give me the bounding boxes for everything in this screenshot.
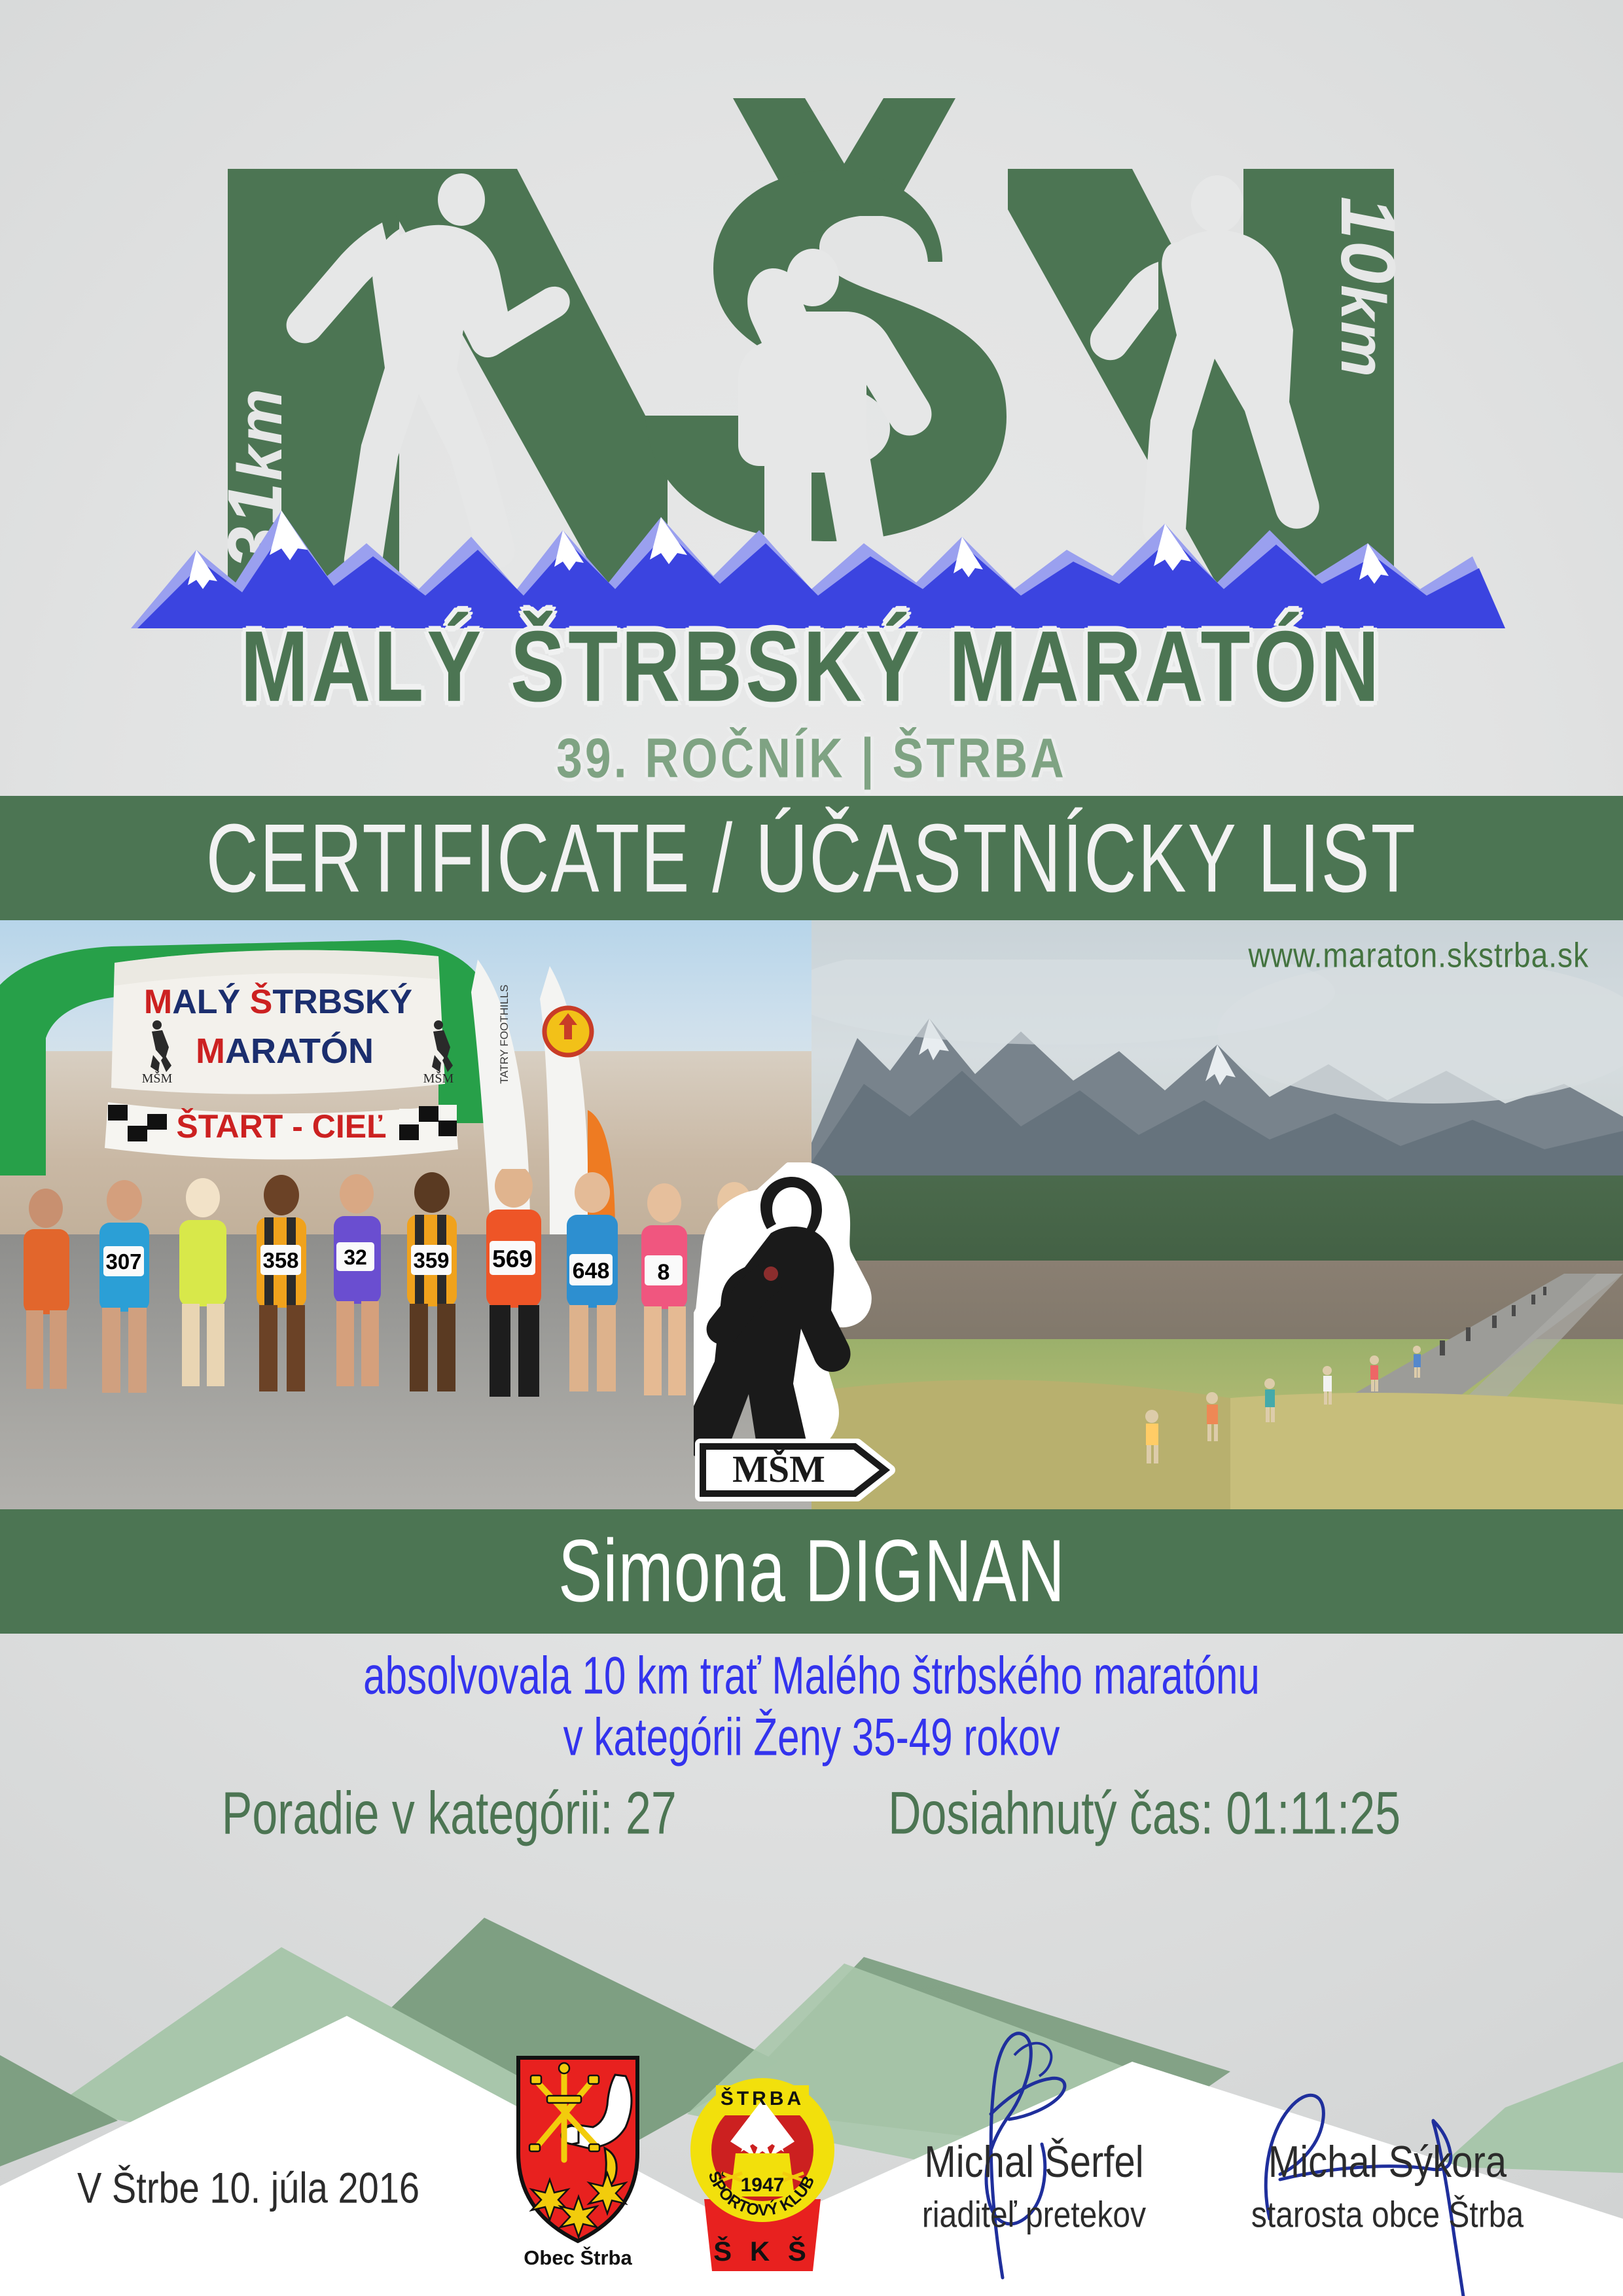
detail-line-category: v kategórii Ženy 35-49 rokov (24, 1706, 1599, 1770)
bib-number: 569 (492, 1246, 533, 1272)
certificate-footer: V Štrbe 10. júla 2016 (0, 2016, 1623, 2296)
tatra-landscape-photo: www.maraton.skstrba.sk (811, 920, 1623, 1509)
participant-name-banner: Simona DIGNAN (0, 1509, 1623, 1634)
signature-block-mayor: Michal Sýkora starosta obce Štrba (1204, 2140, 1571, 2233)
logo-subtitle: 39. ROČNÍK | ŠTRBA (0, 726, 1623, 790)
race-road-runners (811, 1234, 1623, 1509)
issue-date: V Štrbe 10. júla 2016 (77, 2162, 419, 2213)
emblem-text: MŠM (732, 1448, 825, 1490)
photo-strip: MALÝ ŠTRBSKÝ MARATÓN MŠM MŠM (0, 920, 1623, 1509)
sks-club-logo: ŠTRBA 1947 ŠPORTOVÝ KLUB Š K Š (687, 2042, 838, 2274)
emblem-banner: MŠM (700, 1444, 890, 1496)
finish-time: Dosiahnutý čas: 01:11:25 (888, 1780, 1400, 1848)
bib-number: 648 (573, 1259, 610, 1283)
bib-number: 8 (658, 1260, 670, 1285)
detail-line-distance: absolvovala 10 km trať Malého štrbského … (24, 1644, 1599, 1708)
club-year: 1947 (741, 2174, 785, 2196)
arch-start-finish: ŠTART - CIEĽ (176, 1107, 386, 1145)
club-bottom-text: Š K Š (713, 2235, 811, 2267)
signatory-name: Michal Šerfel (851, 2137, 1217, 2188)
bib-number: 307 (105, 1249, 141, 1274)
race-start-photo: MALÝ ŠTRBSKÝ MARATÓN MŠM MŠM (0, 920, 811, 1509)
signatory-name: Michal Sýkora (1204, 2137, 1571, 2188)
certificate-title: CERTIFICATE / ÚČASTNÍCKY LIST (206, 810, 1417, 906)
svg-text:MŠM: MŠM (142, 1070, 173, 1086)
arch-line1: MALÝ ŠTRBSKÝ (144, 982, 412, 1021)
category-rank: Poradie v kategórii: 27 (222, 1780, 677, 1848)
website-url[interactable]: www.maraton.skstrba.sk (1249, 935, 1589, 975)
certificate-title-banner: CERTIFICATE / ÚČASTNÍCKY LIST (0, 796, 1623, 920)
svg-text:MŠM: MŠM (423, 1070, 454, 1086)
bib-number: 358 (262, 1248, 298, 1272)
signatory-role: riaditeľ pretekov (851, 2195, 1217, 2236)
obec-label: Obec Štrba (524, 2246, 632, 2269)
bib-number: 359 (413, 1248, 449, 1272)
logo-title: MALÝ ŠTRBSKÝ MARATÓN (0, 609, 1623, 724)
arch-line2: MARATÓN (196, 1031, 374, 1071)
obec-strba-coat-of-arms: Obec Štrba (509, 2049, 647, 2271)
signatory-role: starosta obce Štrba (1204, 2195, 1571, 2236)
participant-detail-block: absolvovala 10 km trať Malého štrbského … (0, 1644, 1623, 1767)
certificate-page: 31km 10km (0, 0, 1623, 2296)
club-top-text: ŠTRBA (721, 2087, 804, 2109)
msm-runner-emblem: MŠM (694, 1162, 910, 1509)
event-logo-block: 31km 10km (0, 0, 1623, 795)
participant-name: Simona DIGNAN (558, 1521, 1065, 1623)
signature-block-director: Michal Šerfel riaditeľ pretekov (851, 2140, 1217, 2233)
results-row: Poradie v kategórii: 27 Dosiahnutý čas: … (0, 1787, 1623, 1840)
logo-right-distance: 10km (1325, 196, 1411, 378)
svg-text:TATRY FOOTHILLS: TATRY FOOTHILLS (498, 984, 510, 1084)
runner-crowd: 307 358 32 359 569 648 (0, 1169, 811, 1509)
checker-flag-right (399, 1105, 457, 1140)
bib-number: 32 (344, 1246, 367, 1269)
